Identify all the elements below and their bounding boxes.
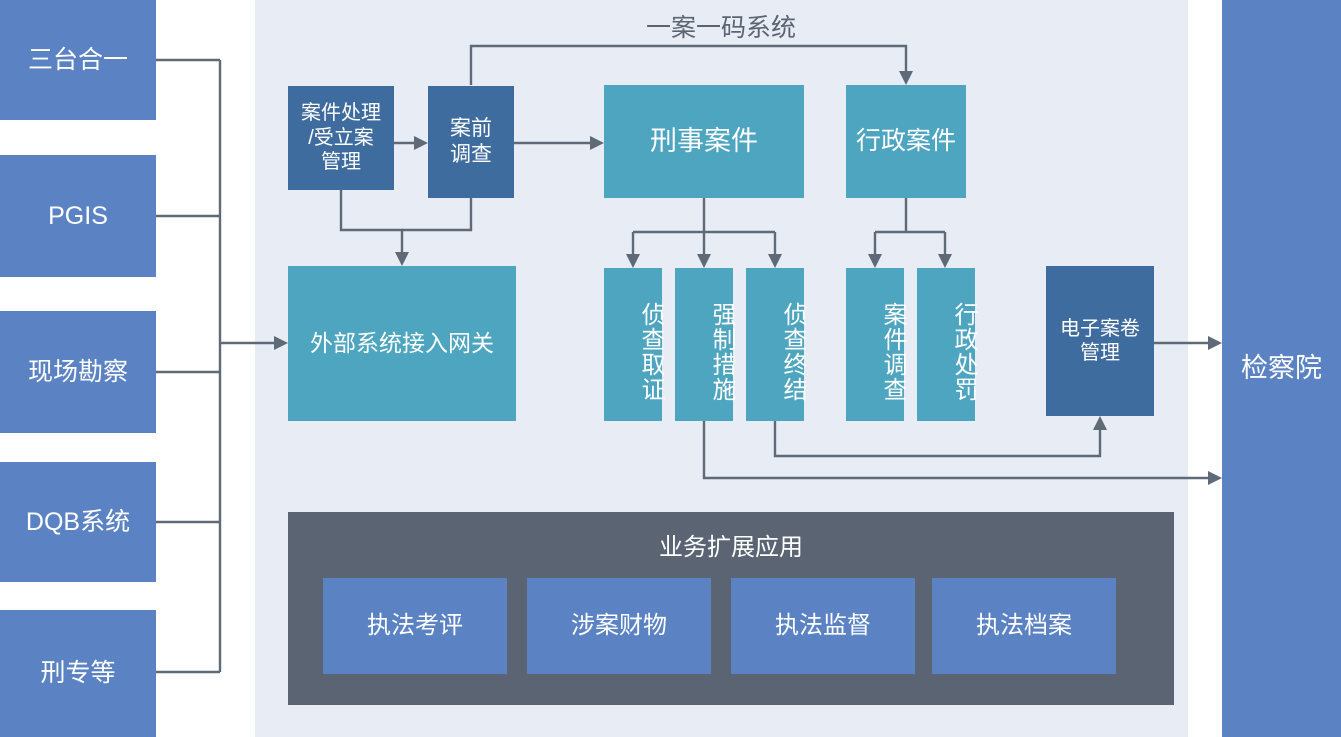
external-system-box-4[interactable]: 刑专等 [0, 610, 156, 737]
external-gateway-box[interactable]: 外部系统接入网关 [288, 266, 516, 421]
external-system-box-0[interactable]: 三台合一 [0, 0, 156, 120]
business-extension-box-2[interactable]: 执法监督 [731, 578, 915, 674]
criminal-step-box-1[interactable]: 强制措施 [675, 268, 733, 421]
criminal-case-box[interactable]: 刑事案件 [604, 85, 804, 198]
business-extension-box-3[interactable]: 执法档案 [932, 578, 1116, 674]
business-extension-box-0[interactable]: 执法考评 [323, 578, 507, 674]
case-intake-box[interactable]: 案件处理 /受立案 管理 [288, 86, 394, 190]
administrative-case-box[interactable]: 行政案件 [846, 85, 966, 198]
criminal-step-box-0[interactable]: 侦查取证 [604, 268, 662, 421]
electronic-dossier-box[interactable]: 电子案卷 管理 [1046, 266, 1154, 416]
external-system-box-1[interactable]: PGIS [0, 155, 156, 277]
administrative-step-box-0[interactable]: 案件调查 [846, 268, 904, 421]
architecture-diagram: 一案一码系统 三台合一 PGIS 现场勘察 DQB系统 刑专等 案件处理 /受立… [0, 0, 1341, 737]
pre-case-investigation-box[interactable]: 案前 调查 [428, 86, 514, 198]
criminal-step-box-2[interactable]: 侦查终结 [746, 268, 804, 421]
external-system-box-3[interactable]: DQB系统 [0, 462, 156, 582]
diagram-title: 一案一码系统 [646, 8, 796, 44]
administrative-step-box-1[interactable]: 行政处罚 [917, 268, 975, 421]
business-extension-box-1[interactable]: 涉案财物 [527, 578, 711, 674]
procuratorate-box[interactable]: 检察院 [1222, 0, 1341, 737]
external-system-box-2[interactable]: 现场勘察 [0, 311, 156, 433]
business-extension-title: 业务扩展应用 [288, 527, 1174, 562]
